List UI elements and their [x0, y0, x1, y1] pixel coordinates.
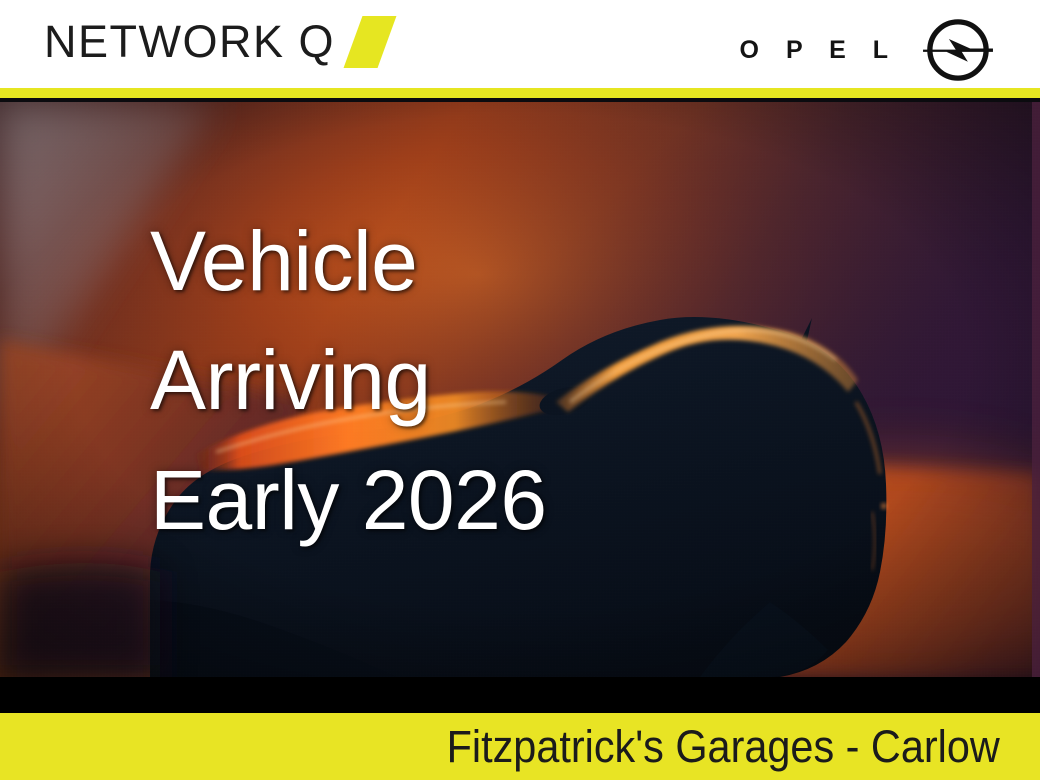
yellow-slash-icon — [344, 16, 397, 68]
headline-line-1: Vehicle — [150, 202, 770, 321]
vehicle-teaser-poster: NETWORK Q O P E L — [0, 0, 1040, 780]
network-q-brand: NETWORK Q — [44, 14, 387, 68]
network-q-wordmark: NETWORK Q — [44, 19, 335, 64]
opel-blitz-logo-icon — [920, 12, 996, 88]
headline-line-3: Early 2026 — [150, 441, 770, 560]
dealer-name-label: Fitzpatrick's Garages - Carlow — [446, 721, 1040, 773]
poster-header: NETWORK Q O P E L — [0, 0, 1040, 88]
hero-photo: Vehicle Arriving Early 2026 — [0, 102, 1040, 677]
hero-headline: Vehicle Arriving Early 2026 — [150, 202, 770, 560]
headline-line-2: Arriving — [150, 321, 770, 440]
opel-brand: O P E L — [740, 12, 996, 88]
header-yellow-rule — [0, 88, 1040, 98]
footer-divider-bar — [0, 677, 1040, 713]
opel-wordmark: O P E L — [740, 38, 898, 63]
dealer-footer: Fitzpatrick's Garages - Carlow — [0, 713, 1040, 780]
